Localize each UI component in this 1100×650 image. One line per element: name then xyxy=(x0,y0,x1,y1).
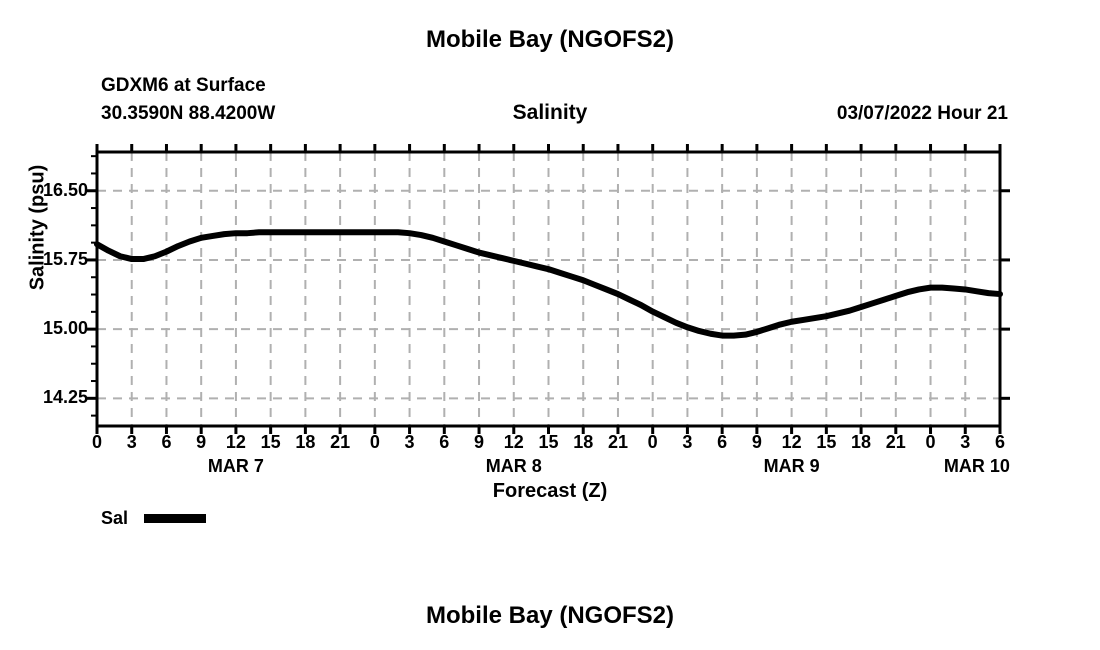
x-tick-label: 9 xyxy=(752,432,762,453)
x-tick-label: 12 xyxy=(782,432,802,453)
x-tick-label: 0 xyxy=(370,432,380,453)
x-tick-label: 0 xyxy=(926,432,936,453)
x-axis-day-label: MAR 10 xyxy=(944,456,1010,477)
x-tick-label: 21 xyxy=(886,432,906,453)
x-axis-label: Forecast (Z) xyxy=(0,480,1100,503)
plot-area: Salinity (psu) 16.5015.7515.0014.25 xyxy=(0,0,1100,650)
x-tick-label: 21 xyxy=(330,432,350,453)
x-tick-label: 0 xyxy=(648,432,658,453)
y-tick-label: 14.25 xyxy=(43,387,88,408)
x-axis-day-label: MAR 8 xyxy=(486,456,542,477)
y-tick-label: 15.75 xyxy=(43,249,88,270)
x-tick-label: 0 xyxy=(92,432,102,453)
page-title-bottom: Mobile Bay (NGOFS2) xyxy=(0,602,1100,630)
x-tick-label: 15 xyxy=(538,432,558,453)
x-tick-label: 3 xyxy=(682,432,692,453)
x-tick-label: 6 xyxy=(717,432,727,453)
x-tick-label: 18 xyxy=(851,432,871,453)
legend-series-label: Sal xyxy=(101,508,128,529)
x-tick-label: 3 xyxy=(405,432,415,453)
x-tick-label: 6 xyxy=(995,432,1005,453)
x-tick-label: 9 xyxy=(474,432,484,453)
legend-line-swatch xyxy=(144,514,206,523)
x-tick-label: 6 xyxy=(161,432,171,453)
x-tick-label: 12 xyxy=(226,432,246,453)
x-tick-label: 15 xyxy=(816,432,836,453)
x-tick-label: 6 xyxy=(439,432,449,453)
x-tick-label: 21 xyxy=(608,432,628,453)
chart-legend: Sal xyxy=(101,508,206,529)
x-axis-day-label: MAR 7 xyxy=(208,456,264,477)
chart-page: Mobile Bay (NGOFS2) GDXM6 at Surface 30.… xyxy=(0,0,1100,650)
x-tick-label: 3 xyxy=(960,432,970,453)
y-tick-labels: 16.5015.7515.0014.25 xyxy=(24,0,88,650)
x-tick-label: 18 xyxy=(573,432,593,453)
x-tick-label: 3 xyxy=(127,432,137,453)
x-tick-label: 9 xyxy=(196,432,206,453)
x-tick-label: 15 xyxy=(261,432,281,453)
x-axis-day-label: MAR 9 xyxy=(764,456,820,477)
salinity-line-chart xyxy=(0,0,1100,650)
x-tick-label: 12 xyxy=(504,432,524,453)
y-tick-label: 15.00 xyxy=(43,318,88,339)
y-tick-label: 16.50 xyxy=(43,180,88,201)
x-tick-label: 18 xyxy=(295,432,315,453)
